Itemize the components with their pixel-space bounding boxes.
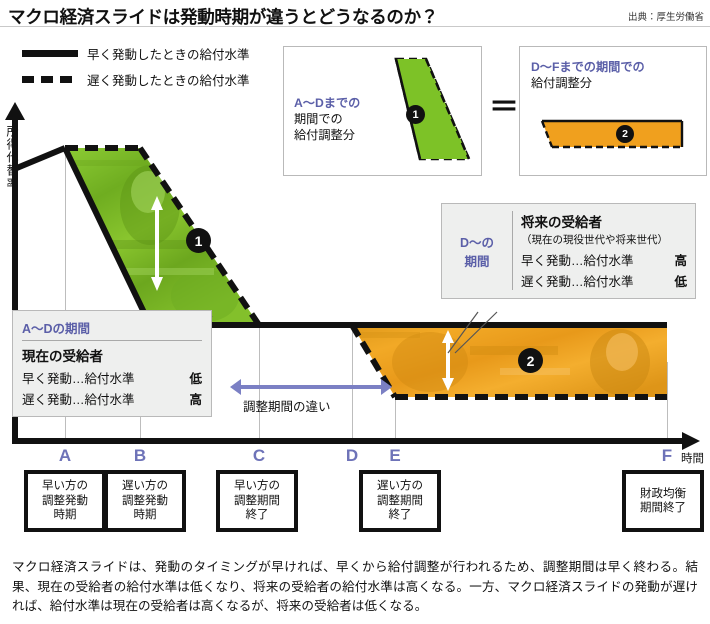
callout-2-period: D〜の 期間: [450, 211, 513, 290]
tick-note-e: 遅い方の 調整期間 終了: [359, 470, 441, 532]
callout-2-head2: 期間: [464, 251, 489, 270]
legend-label-early: 早く発動したときの給付水準: [87, 44, 250, 63]
x-tick-d: D: [340, 446, 364, 466]
arrow-shaft: [241, 385, 381, 389]
callout-1-row-early: 早く発動…給付水準 低: [22, 368, 202, 387]
tick-note-f: 財政均衡 期間終了: [622, 470, 704, 532]
tick-note-f-line2: 期間終了: [630, 501, 696, 515]
callout-1-row-late: 遅く発動…給付水準 高: [22, 389, 202, 408]
x-tick-f: F: [655, 446, 679, 466]
callout-2-row-early-label: 早く発動…給付水準: [521, 250, 634, 269]
x-tick-b: B: [128, 446, 152, 466]
callout-future-beneficiaries: D〜の 期間 将来の受給者 （現在の現役世代や将来世代） 早く発動…給付水準 高…: [441, 203, 696, 299]
callout-1-divider: [22, 340, 202, 341]
header-divider: [0, 26, 710, 27]
tick-note-e-line3: 終了: [367, 508, 433, 522]
callout-2-body: 将来の受給者 （現在の現役世代や将来世代） 早く発動…給付水準 高 遅く発動…給…: [521, 211, 687, 290]
callout-2-note: （現在の現役世代や将来世代）: [521, 232, 687, 247]
infographic-root: マクロ経済スライドは発動時期が違うとどうなるのか？ 出典：厚生労働省 早く発動し…: [0, 0, 710, 624]
x-axis-arrowhead-icon: [682, 432, 700, 450]
tick-note-b-line1: 遅い方の: [112, 479, 178, 493]
callout-1-head: A〜Dの期間: [22, 318, 202, 337]
callout-2-row-early-level: 高: [674, 250, 687, 269]
callout-1-row-late-level: 高: [189, 389, 202, 408]
badge-1-chart: 1: [186, 228, 211, 253]
tick-note-c: 早い方の 調整期間 終了: [216, 470, 298, 532]
callout-2-row-late-level: 低: [674, 271, 687, 290]
main-chart: 所得代替率: [0, 100, 710, 440]
tick-note-b-line3: 時期: [112, 508, 178, 522]
callout-2-sub: 将来の受給者: [521, 211, 687, 231]
callout-2-head: D〜の: [460, 232, 494, 251]
x-axis: [12, 438, 684, 444]
legend-item-early: 早く発動したときの給付水準: [22, 44, 250, 63]
x-axis-label: 時間: [681, 450, 704, 466]
badge-2-chart: 2: [518, 348, 543, 373]
solid-line-icon: [22, 50, 78, 57]
tick-note-f-line1: 財政均衡: [630, 487, 696, 501]
callout-2-row-late: 遅く発動…給付水準 低: [521, 271, 687, 290]
tick-note-c-line1: 早い方の: [224, 479, 290, 493]
y-axis-arrowhead-icon: [5, 102, 25, 120]
x-tick-e: E: [383, 446, 407, 466]
dashed-line-icon: [22, 76, 78, 83]
x-tick-c: C: [247, 446, 271, 466]
tick-note-a-line1: 早い方の: [32, 479, 98, 493]
legend-item-late: 遅く発動したときの給付水準: [22, 70, 250, 89]
callout-2-row-late-label: 遅く発動…給付水準: [521, 271, 634, 290]
callout-current-beneficiaries: A〜Dの期間 現在の受給者 早く発動…給付水準 低 遅く発動…給付水準 高: [12, 310, 212, 417]
arrow-head-left-icon: [230, 379, 241, 395]
tick-note-a-line2: 調整発動: [32, 494, 98, 508]
tick-note-b-line2: 調整発動: [112, 494, 178, 508]
tick-note-a: 早い方の 調整発動 時期: [24, 470, 106, 532]
arrow-head-right-icon: [381, 379, 392, 395]
callout-1-row-early-level: 低: [189, 368, 202, 387]
callout-2-row-early: 早く発動…給付水準 高: [521, 250, 687, 269]
callout-1-row-late-label: 遅く発動…給付水準: [22, 389, 135, 408]
tick-note-e-line2: 調整期間: [367, 494, 433, 508]
legend-label-late: 遅く発動したときの給付水準: [87, 70, 250, 89]
callout-1-sub: 現在の受給者: [22, 345, 202, 365]
summary-paragraph: マクロ経済スライドは、発動のタイミングが早ければ、早くから給付調整が行われるため…: [12, 558, 698, 617]
tick-note-c-line3: 終了: [224, 508, 290, 522]
source-attribution: 出典：厚生労働省: [628, 9, 704, 23]
x-tick-a: A: [53, 446, 77, 466]
tick-note-e-line1: 遅い方の: [367, 479, 433, 493]
adjust-period-arrow: [230, 378, 392, 396]
tick-note-a-line3: 時期: [32, 508, 98, 522]
adjust-period-arrow-label: 調整期間の違い: [243, 396, 331, 415]
tick-note-b: 遅い方の 調整発動 時期: [104, 470, 186, 532]
tick-note-c-line2: 調整期間: [224, 494, 290, 508]
callout-1-row-early-label: 早く発動…給付水準: [22, 368, 135, 387]
